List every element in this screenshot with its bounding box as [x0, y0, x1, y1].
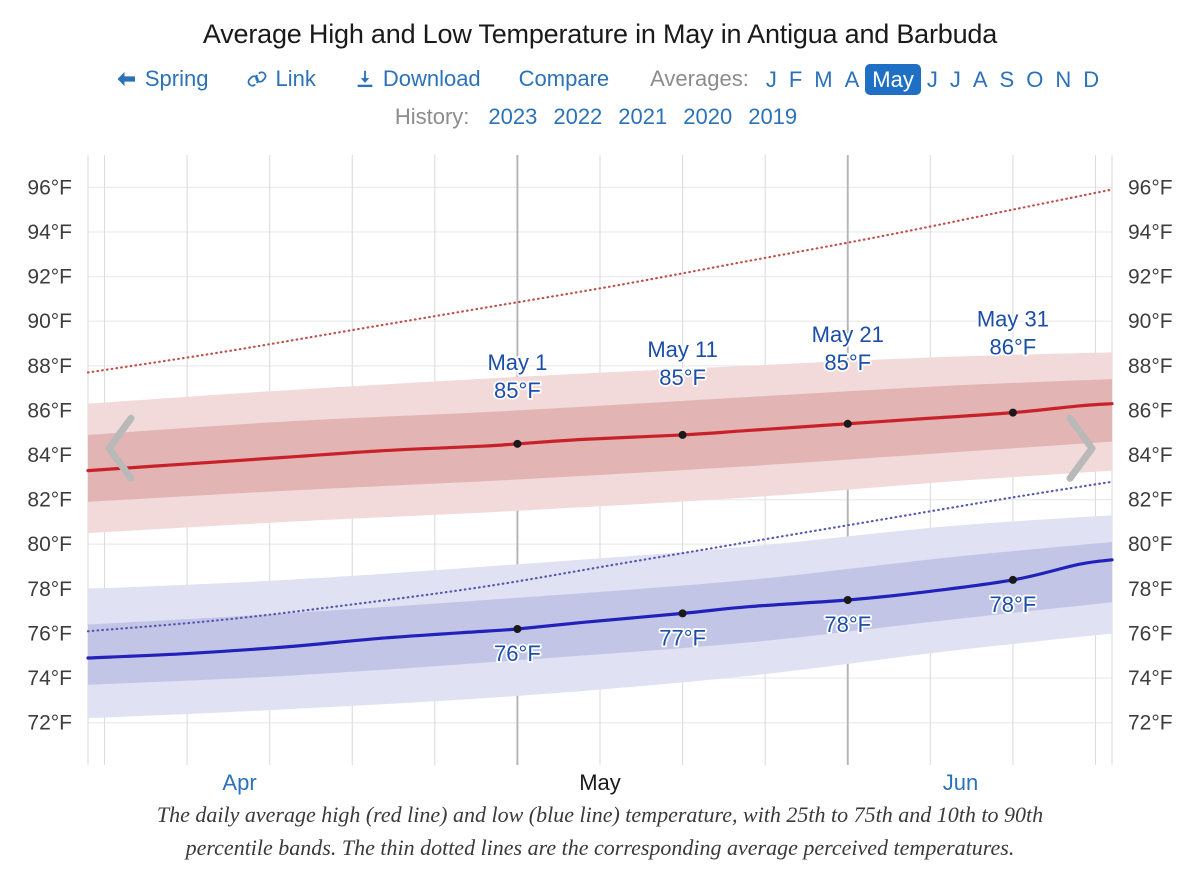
high-annotation-value: 85°F [494, 378, 541, 403]
y-tick-left: 74°F [27, 667, 72, 690]
y-tick-left: 88°F [27, 355, 72, 378]
y-tick-right: 76°F [1128, 622, 1173, 645]
link-icon [246, 68, 268, 90]
y-tick-right: 72°F [1128, 712, 1173, 735]
link-label: Link [275, 66, 315, 92]
x-tick-apr[interactable]: Apr [222, 770, 256, 795]
y-tick-left: 82°F [27, 489, 72, 512]
history-year-2021[interactable]: 2021 [618, 104, 667, 130]
spring-season-link[interactable]: Spring [114, 66, 209, 92]
month-aug[interactable]: A [967, 65, 994, 95]
y-tick-right: 86°F [1128, 399, 1173, 422]
month-apr[interactable]: A [839, 65, 866, 95]
caption-line-1: The daily average high (red line) and lo… [0, 798, 1200, 831]
high-annotation-value: 86°F [990, 335, 1037, 360]
y-tick-left: 92°F [27, 266, 72, 289]
chart-toolbar: Spring Link Download Compare Averages: J… [0, 64, 1200, 96]
averages-month-selector: Averages: J F M A May J J A S O N D [650, 64, 1105, 96]
y-tick-left: 94°F [27, 221, 72, 244]
x-tick-jun[interactable]: Jun [943, 770, 978, 795]
caption-line-2: percentile bands. The thin dotted lines … [0, 831, 1200, 864]
high-annotation-date: May 1 [487, 350, 547, 375]
temperature-chart: 96°F94°F92°F90°F88°F86°F84°F82°F80°F78°F… [0, 145, 1200, 795]
y-tick-left: 84°F [27, 444, 72, 467]
low-annotation-value: 77°F [659, 625, 706, 650]
month-feb[interactable]: F [783, 65, 808, 95]
history-year-2020[interactable]: 2020 [683, 104, 732, 130]
download-label: Download [383, 66, 481, 92]
arrow-left-icon [114, 69, 138, 89]
high-annotation-value: 85°F [659, 365, 706, 390]
high-annotation-date: May 21 [812, 322, 884, 347]
month-may-selected[interactable]: May [865, 64, 921, 96]
page-title: Average High and Low Temperature in May … [0, 0, 1200, 50]
x-axis-labels: AprMayJun [222, 770, 978, 795]
low-annotation-value: 78°F [824, 612, 871, 637]
history-label: History: [395, 104, 470, 130]
y-tick-left: 80°F [27, 533, 72, 556]
y-tick-right: 96°F [1128, 176, 1173, 199]
history-year-2023[interactable]: 2023 [488, 104, 537, 130]
low-annotation-value: 76°F [494, 641, 541, 666]
y-tick-right: 88°F [1128, 355, 1173, 378]
y-tick-left: 78°F [27, 578, 72, 601]
history-year-2022[interactable]: 2022 [553, 104, 602, 130]
month-dec[interactable]: D [1077, 65, 1105, 95]
compare-label: Compare [519, 66, 609, 92]
y-tick-right: 82°F [1128, 489, 1173, 512]
high-annotation-date: May 11 [647, 337, 718, 362]
y-tick-left: 76°F [27, 622, 72, 645]
y-tick-right: 94°F [1128, 221, 1173, 244]
y-tick-left: 90°F [27, 310, 72, 333]
history-year-2019[interactable]: 2019 [748, 104, 797, 130]
history-year-selector: History: 2023 2022 2021 2020 2019 [0, 104, 1200, 130]
month-jul[interactable]: J [944, 65, 967, 95]
chart-caption: The daily average high (red line) and lo… [0, 798, 1200, 864]
y-tick-right: 78°F [1128, 578, 1173, 601]
y-axis-left: 96°F94°F92°F90°F88°F86°F84°F82°F80°F78°F… [27, 176, 72, 734]
y-tick-left: 96°F [27, 176, 72, 199]
low-annotation-value: 78°F [990, 592, 1037, 617]
compare-button[interactable]: Compare [519, 66, 609, 92]
month-jun[interactable]: J [921, 65, 944, 95]
y-tick-right: 84°F [1128, 444, 1173, 467]
y-axis-right: 96°F94°F92°F90°F88°F86°F84°F82°F80°F78°F… [1128, 176, 1173, 734]
chart-svg: 96°F94°F92°F90°F88°F86°F84°F82°F80°F78°F… [0, 145, 1200, 795]
averages-label: Averages: [650, 66, 749, 92]
month-mar[interactable]: M [808, 65, 838, 95]
download-button[interactable]: Download [354, 66, 481, 92]
y-tick-left: 86°F [27, 399, 72, 422]
link-button[interactable]: Link [246, 66, 315, 92]
month-jan[interactable]: J [760, 65, 783, 95]
download-icon [354, 68, 376, 90]
high-annotation-value: 85°F [824, 350, 871, 375]
y-tick-right: 74°F [1128, 667, 1173, 690]
y-tick-left: 72°F [27, 712, 72, 735]
month-sep[interactable]: S [994, 65, 1021, 95]
month-nov[interactable]: N [1049, 65, 1077, 95]
y-tick-right: 92°F [1128, 266, 1173, 289]
x-tick-may: May [579, 770, 621, 795]
spring-season-label: Spring [145, 66, 209, 92]
y-tick-right: 80°F [1128, 533, 1173, 556]
y-tick-right: 90°F [1128, 310, 1173, 333]
month-oct[interactable]: O [1020, 65, 1049, 95]
high-annotation-date: May 31 [977, 307, 1049, 332]
